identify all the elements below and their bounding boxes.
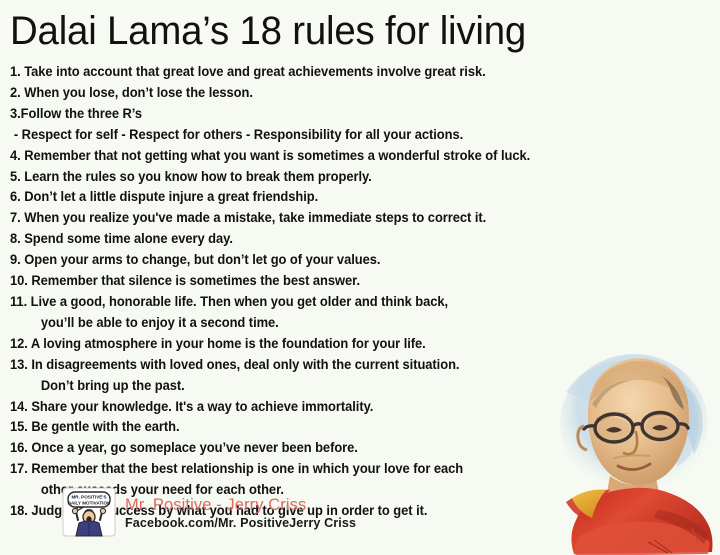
rule-3: 3.Follow the three R’s (10, 104, 589, 125)
rule-2: 2. When you lose, don’t lose the lesson. (10, 83, 589, 104)
svg-text:DAILY MOTIVATION: DAILY MOTIVATION (68, 500, 111, 505)
rule-16: 16. Once a year, go someplace you’ve nev… (10, 438, 589, 459)
rule-4: 4. Remember that not getting what you wa… (10, 146, 589, 167)
rule-5: 5. Learn the rules so you know how to br… (10, 167, 589, 188)
rule-1: 1. Take into account that great love and… (10, 62, 589, 83)
rule-8: 8. Spend some time alone every day. (10, 229, 589, 250)
rule-17: 17. Remember that the best relationship … (10, 459, 589, 480)
mr-positive-logo-icon: MR. POSITIVE'S DAILY MOTIVATION (62, 487, 116, 537)
rule-12: 12. A loving atmosphere in your home is … (10, 334, 589, 355)
facebook-link[interactable]: Facebook.com/Mr. PositiveJerry Criss (125, 515, 356, 531)
rule-13-cont: Don’t bring up the past. (10, 376, 589, 397)
rule-11: 11. Live a good, honorable life. Then wh… (10, 292, 589, 313)
poster-canvas: Dalai Lama’s 18 rules for living 1. Take… (0, 0, 720, 555)
dalai-lama-portrait (552, 352, 720, 555)
rules-list: 1. Take into account that great love and… (10, 62, 610, 522)
rule-13: 13. In disagreements with loved ones, de… (10, 355, 589, 376)
rule-3-sub: - Respect for self - Respect for others … (10, 125, 589, 146)
portrait-robe (566, 488, 713, 555)
svg-text:MR. POSITIVE'S: MR. POSITIVE'S (71, 495, 106, 500)
rule-15: 15. Be gentle with the earth. (10, 417, 589, 438)
rule-14: 14. Share your knowledge. It's a way to … (10, 397, 589, 418)
rule-6: 6. Don’t let a little dispute injure a g… (10, 187, 589, 208)
brand-name: Mr. Positive - Jerry Criss (125, 496, 356, 515)
rule-9: 9. Open your arms to change, but don’t l… (10, 250, 589, 271)
page-title: Dalai Lama’s 18 rules for living (10, 8, 526, 54)
rule-11-cont: you’ll be able to enjoy it a second time… (10, 313, 589, 334)
rule-10: 10. Remember that silence is sometimes t… (10, 271, 589, 292)
rule-7: 7. When you realize you've made a mistak… (10, 208, 589, 229)
footer: MR. POSITIVE'S DAILY MOTIVATION Mr. Posi… (62, 487, 356, 537)
footer-text-block: Mr. Positive - Jerry Criss Facebook.com/… (125, 494, 356, 531)
